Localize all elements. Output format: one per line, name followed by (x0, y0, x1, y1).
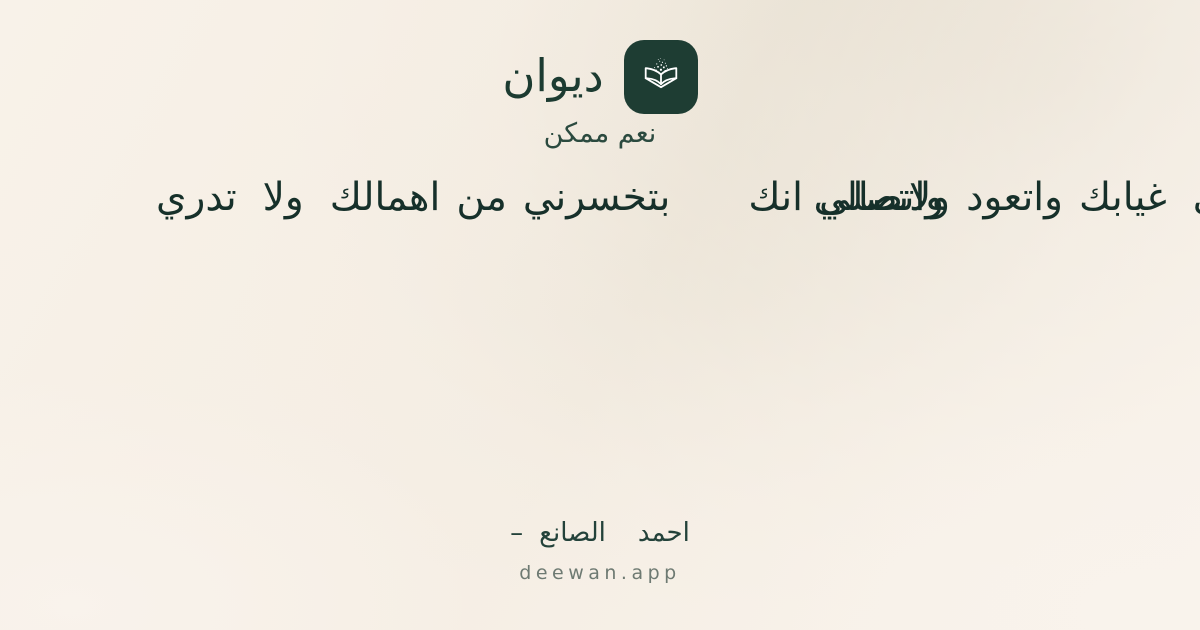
verse-word: غيابك (1079, 163, 1167, 233)
verse-word: تدري (156, 163, 237, 233)
brand-lockup: ديوان (0, 38, 1200, 116)
author-dash: – (510, 518, 523, 548)
app-logo-tile (624, 40, 698, 114)
author-first-name: احمد (638, 518, 690, 548)
verse-word: من (456, 163, 507, 233)
verse-overlapping-words: ولاتصليواتصالي (819, 163, 950, 233)
site-url: deewan.app (0, 561, 1200, 586)
verse-word: على (1193, 163, 1200, 233)
verse-word: واتعود (966, 163, 1063, 233)
verse-word: ولا (263, 163, 304, 233)
verse-clip-band: يعلىغيابكواتعودولاتصليواتصاليانكبتخسرنيم… (0, 163, 1200, 233)
verse-word: اهمالك (330, 163, 441, 233)
poem-subtitle: نعم ممكن (0, 118, 1200, 150)
verse-line: يعلىغيابكواتعودولاتصليواتصاليانكبتخسرنيم… (156, 163, 1200, 233)
card-footer: احمدالصانع– deewan.app (0, 516, 1200, 586)
quote-card: ديوان نعم ممكن يعلىغيابكواتعودولاتصليوات… (0, 0, 1200, 630)
verse-word-overlay: واتصالي (814, 163, 945, 233)
app-wordmark: ديوان (502, 53, 603, 102)
poem-author: احمدالصانع– (0, 516, 1200, 551)
author-last-name: الصانع (539, 518, 606, 548)
open-book-sparkles-icon (637, 53, 685, 101)
verse-word: انك (748, 163, 803, 233)
verse-word: بتخسرني (523, 163, 670, 233)
